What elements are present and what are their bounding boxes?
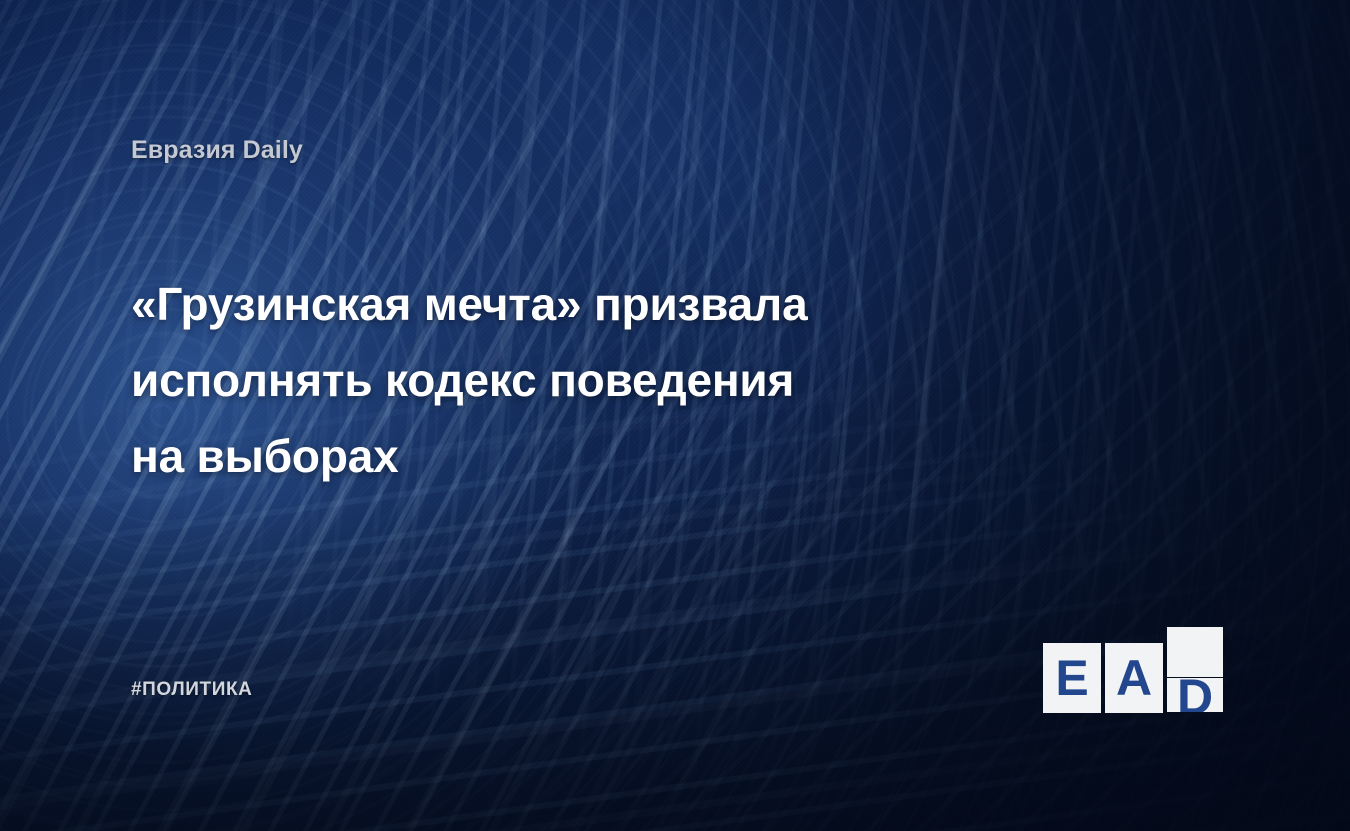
svg-text:D: D [1177,678,1213,725]
news-card: Евразия Daily «Грузинская мечта» призвал… [0,0,1350,831]
logo-tile-e: E [1043,643,1101,713]
svg-text:D: D [1177,668,1213,677]
logo-tile-d-rotated: D [1167,627,1223,677]
headline-line-2: исполнять кодекс поведения [131,342,1011,418]
headline: «Грузинская мечта» призвала исполнять ко… [131,266,1011,494]
logo-tile-d: D [1167,678,1223,728]
category-hashtag[interactable]: #ПОЛИТИКА [131,679,253,701]
svg-text:E: E [1055,650,1088,706]
headline-line-3: на выборах [131,418,1011,494]
logo-tile-a: A [1105,643,1163,713]
eadaily-logo[interactable]: E A D D [1043,627,1223,713]
headline-line-1: «Грузинская мечта» призвала [131,266,1011,342]
card-content: Евразия Daily «Грузинская мечта» призвал… [0,0,1350,831]
svg-text:A: A [1116,650,1152,706]
brand-label: Евразия Daily [131,136,303,165]
